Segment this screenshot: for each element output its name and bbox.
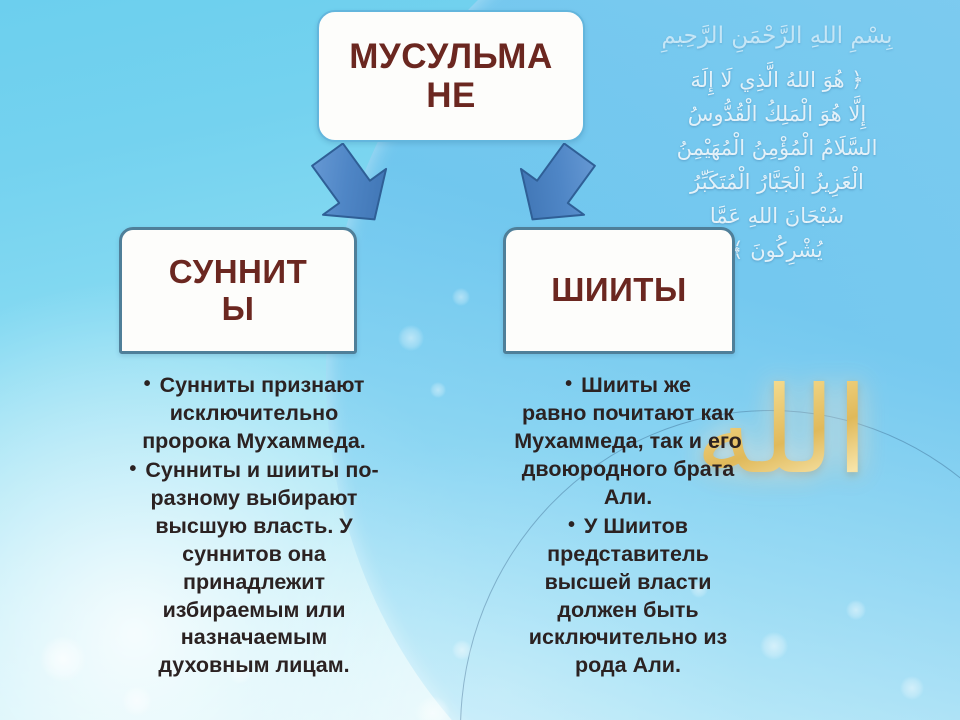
node-muslims: МУСУЛЬМА НЕ [317,10,585,142]
bokeh-dot [846,600,866,620]
basmala-text: بِسْمِ اللهِ الرَّحْمَنِ الرَّحِيمِ [612,18,942,55]
shia-line-5: Али. [482,484,774,512]
shia-line-1: Шииты же [482,371,774,400]
sunni-line-10: назначаемым [98,624,410,652]
node-shia: ШИИТЫ [503,227,735,354]
bokeh-dot [40,636,86,682]
node-shia-label: ШИИТЫ [551,272,687,309]
bokeh-dot [416,696,450,720]
shia-line-8: высшей власти [482,569,774,597]
shia-line-3: Мухаммеда, так и его [482,428,774,456]
bokeh-dot [900,676,924,700]
arrow-down-right-icon [497,143,615,231]
sunni-line-4: Сунниты и шииты по- [98,456,410,485]
sunni-line-5: разному выбирают [98,485,410,513]
verse-line-2: إِلَّا هُوَ الْمَلِكُ الْقُدُّوسُ [688,102,866,126]
node-sunni-label: СУННИТ Ы [169,254,307,328]
shia-line-4: двоюродного брата [482,456,774,484]
node-sunni: СУННИТ Ы [119,227,357,354]
sunni-line-2: исключительно [98,400,410,428]
verse-line-1: ﴿ هُوَ اللهُ الَّذِي لَا إِلَهَ [690,68,863,92]
shia-line-9: должен быть [482,597,774,625]
node-muslims-label: МУСУЛЬМА НЕ [349,37,552,115]
sunni-description: Сунниты признают исключительно пророка М… [98,371,410,680]
shia-line-6: У Шиитов [482,512,774,541]
bokeh-dot [398,325,424,351]
bokeh-dot [452,640,472,660]
verse-line-6: يُشْرِكُونَ ﴾ [731,238,822,262]
sunni-line-11: духовным лицам. [98,652,410,680]
sunni-line-7: суннитов она [98,541,410,569]
sunni-line-8: принадлежит [98,569,410,597]
bokeh-dot [452,288,470,306]
arrow-down-left-icon [292,143,410,231]
shia-line-10: исключительно из [482,624,774,652]
sunni-line-1: Сунниты признают [98,371,410,400]
shia-line-11: рода Али. [482,652,774,680]
shia-line-2: равно почитают как [482,400,774,428]
sunni-line-3: пророка Мухаммеда. [98,428,410,456]
bokeh-dot [430,382,446,398]
shia-description: Шииты же равно почитают как Мухаммеда, т… [482,371,774,680]
verse-line-5: سُبْحَانَ اللهِ عَمَّا [710,204,844,228]
bokeh-dot [122,686,152,716]
verse-line-3: السَّلَامُ الْمُؤْمِنُ الْمُهَيْمِنُ [677,136,878,160]
verse-line-4: الْعَزِيزُ الْجَبَّارُ الْمُتَكَبِّرُ [690,170,864,194]
slide-canvas: بِسْمِ اللهِ الرَّحْمَنِ الرَّحِيمِ ﴿ هُ… [0,0,960,720]
sunni-line-9: избираемым или [98,597,410,625]
shia-line-7: представитель [482,541,774,569]
sunni-line-6: высшую власть. У [98,513,410,541]
